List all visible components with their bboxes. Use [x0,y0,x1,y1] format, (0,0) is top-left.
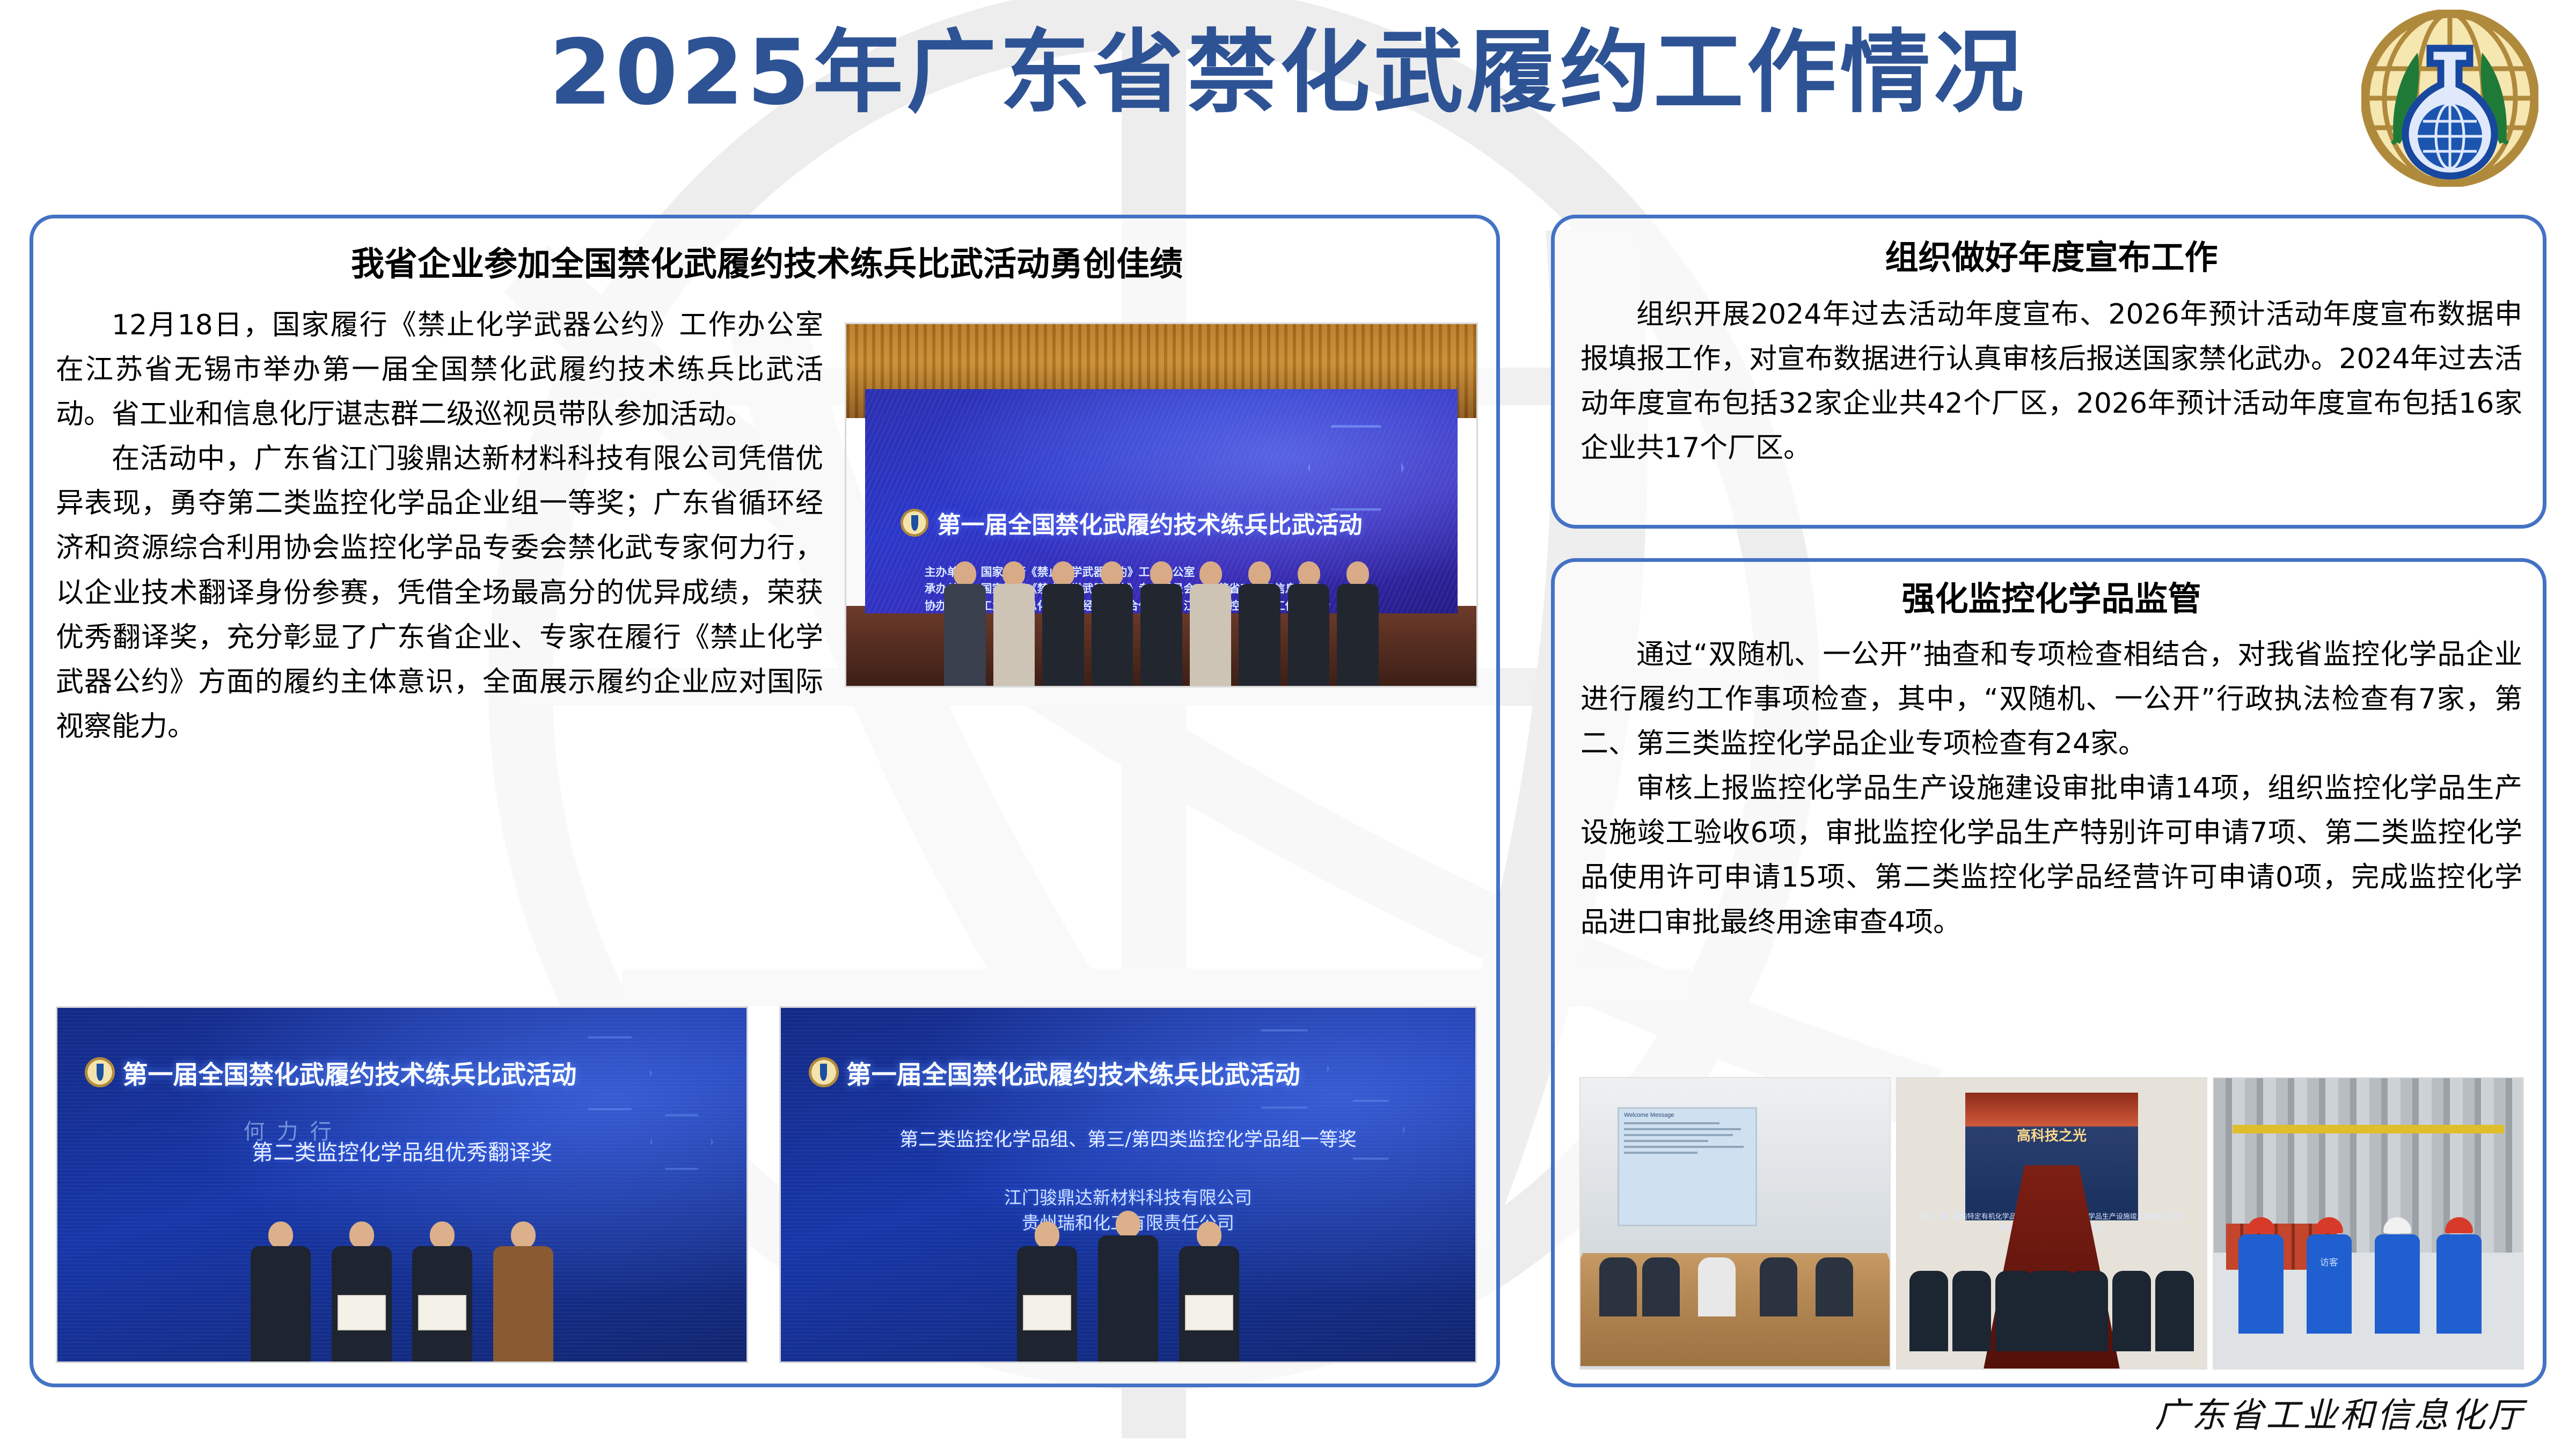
left-paragraph-2: 在活动中，广东省江门骏鼎达新材料科技有限公司凭借优异表现，勇夺第二类监控化学品企… [56,437,823,749]
photo1-people [846,497,1476,685]
photo-meeting-room: Welcome Message [1579,1077,1891,1370]
left-panel-text: 12月18日，国家履行《禁止化学武器公约》工作办公室在江苏省无锡市举办第一届全国… [56,303,823,750]
photo2-banner: 第一届全国禁化武履约技术练兵比武活动 [122,1054,576,1091]
opcw-mini-logo-icon [85,1057,115,1087]
photo-award-translation: 第一届全国禁化武履约技术练兵比武活动 何力行 第二类监控化学品组优秀翻译奖 [56,1006,748,1363]
annual-panel-heading: 组织做好年度宣布工作 [1580,237,2522,279]
supervise-paragraph-2: 审核上报监控化学品生产设施建设审批申请14项，组织监控化学品生产设施竣工验收6项… [1580,766,2522,945]
opcw-logo-icon [2361,10,2538,187]
left-paragraph-1: 12月18日，国家履行《禁止化学武器公约》工作办公室在江苏省无锡市举办第一届全国… [56,303,823,437]
opcw-mini-logo-icon [809,1057,839,1087]
photo-award-first-prize: 第一届全国禁化武履约技术练兵比武活动 第二类监控化学品组、第三/第四类监控化学品… [779,1006,1477,1363]
photo-group-stage: 第一届全国禁化武履约技术练兵比武活动 主办单位：国家履行《禁止化学武器公约》工作… [845,323,1478,687]
supervise-paragraph-1: 通过“双随机、一公开”抽查和专项检查相结合，对我省监控化学品企业进行履约工作事项… [1580,633,2522,767]
photo-conference-led: 高科技之光 合成、称、高纯特定有机化学品新（扩、改）建 监控化学品生产设施竣工验… [1896,1077,2207,1370]
photo3-banner: 第一届全国禁化武履约技术练兵比武活动 [846,1054,1300,1091]
annual-declaration-panel: 组织做好年度宣布工作 组织开展2024年过去活动年度宣布、2026年预计活动年度… [1551,215,2546,529]
photo3-caption: 第二类监控化学品组、第三/第四类监控化学品组一等奖 [781,1124,1475,1152]
supervision-panel: 强化监控化学品监管 通过“双随机、一公开”抽查和专项检查相结合，对我省监控化学品… [1551,558,2546,1387]
poster-header: 2025年广东省禁化武履约工作情况 [0,0,2576,209]
left-panel-heading: 我省企业参加全国禁化武履约技术练兵比武活动勇创佳绩 [56,243,1478,285]
supervise-panel-heading: 强化监控化学品监管 [1580,578,2522,620]
footer-organization: 广东省工业和信息化厅 [2155,1388,2525,1437]
annual-paragraph-1: 组织开展2024年过去活动年度宣布、2026年预计活动年度宣布数据申报填报工作，… [1580,292,2522,471]
led-title: 高科技之光 [1897,1125,2206,1145]
page-title: 2025年广东省禁化武履约工作情况 [0,16,2576,129]
photo-plant-inspection: 访客 [2213,1077,2524,1370]
left-panel: 我省企业参加全国禁化武履约技术练兵比武活动勇创佳绩 12月18日，国家履行《禁止… [30,215,1500,1387]
projector-slide: Welcome Message [1618,1107,1757,1226]
uniform-text: 访客 [2320,1255,2338,1268]
supervision-photo-row: Welcome Message 高科技之光 合成、称、高纯特定有机化学品新（扩、… [1579,1077,2524,1370]
